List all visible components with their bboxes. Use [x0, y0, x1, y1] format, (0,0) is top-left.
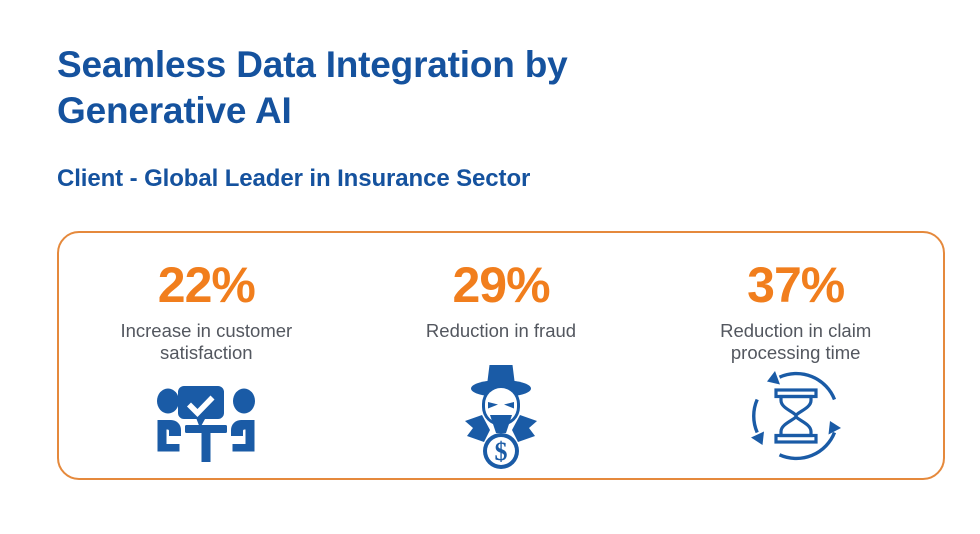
stat-value: 37% — [747, 259, 844, 312]
page-title: Seamless Data Integration by Generative … — [57, 42, 757, 135]
stats-card: 22% Increase in customer satisfaction — [57, 231, 945, 480]
stat-label: Increase in customer satisfaction — [120, 320, 292, 365]
stat-value: 22% — [158, 259, 255, 312]
slide-canvas: Seamless Data Integration by Generative … — [0, 0, 980, 534]
hourglass-cycle-arrows-icon — [748, 368, 844, 464]
stat-value: 29% — [452, 259, 549, 312]
stat-label: Reduction in fraud — [426, 320, 576, 343]
stat-item: 22% Increase in customer satisfaction — [59, 233, 354, 478]
stat-label: Reduction in claim processing time — [720, 320, 871, 365]
page-subtitle: Client - Global Leader in Insurance Sect… — [57, 165, 817, 193]
people-meeting-checkmark-icon — [154, 384, 258, 462]
svg-text:$: $ — [495, 437, 508, 466]
fraudster-hat-dollar-icon: $ — [463, 363, 539, 470]
stat-item: 29% Reduction in fraud — [354, 233, 649, 478]
stat-item: 37% Reduction in claim processing time — [648, 233, 943, 478]
